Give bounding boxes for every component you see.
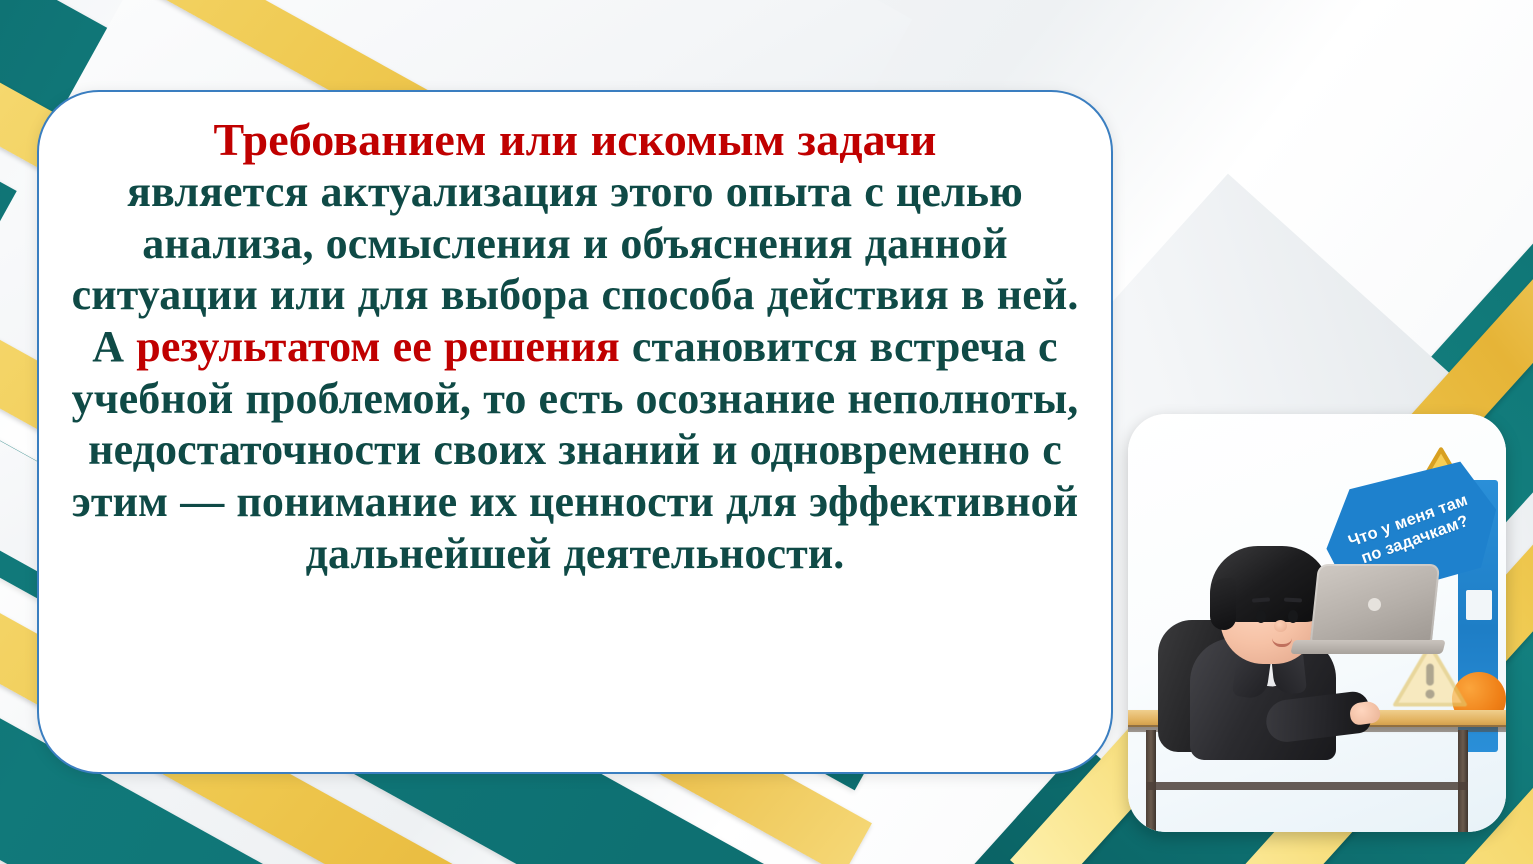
laptop-logo-icon xyxy=(1368,598,1381,611)
character-nose xyxy=(1274,620,1287,632)
laptop-keyboard-base xyxy=(1290,640,1445,654)
character-eyebrow-right xyxy=(1284,598,1302,603)
slide-root: Требованием или искомым задачи является … xyxy=(0,0,1533,864)
character-eye-right xyxy=(1288,610,1298,623)
highlighted-phrase-2: результатом ее решения xyxy=(136,322,620,371)
desk-leg-left xyxy=(1146,730,1156,832)
character-hair-side xyxy=(1210,578,1236,630)
slide-body-text: Требованием или искомым задачи является … xyxy=(69,114,1081,579)
character-eye-left xyxy=(1256,610,1266,623)
highlighted-phrase-1: Требованием или искомым задачи xyxy=(69,114,1081,166)
desk-leg-right xyxy=(1458,730,1468,832)
character-hand xyxy=(1349,700,1382,726)
illustration-card: Что у меня там по задачкам? xyxy=(1128,414,1506,832)
text-content-card: Требованием или искомым задачи является … xyxy=(37,90,1113,774)
